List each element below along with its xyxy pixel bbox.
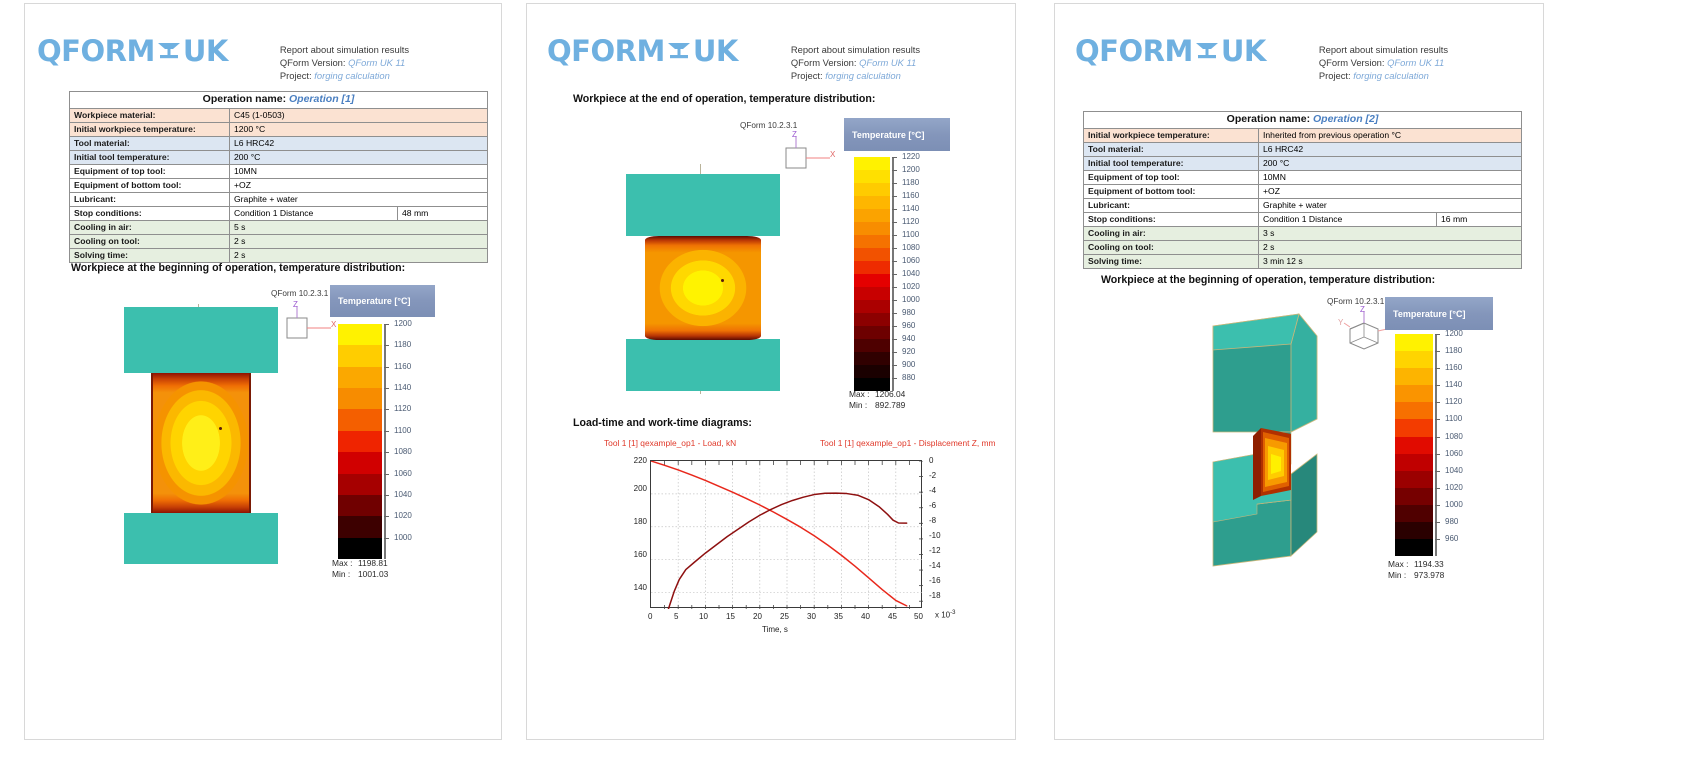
param-value: Condition 1 Distance [1259,213,1437,227]
header-project-value: forging calculation [314,70,390,81]
x-tick: 25 [780,612,789,621]
table-row: Lubricant:Graphite + water [1084,199,1522,213]
param-value: Condition 1 Distance [230,207,398,221]
colorbar-tick: 1120 [1445,397,1462,406]
param-value: L6 HRC42 [1259,143,1522,157]
param-value: Inherited from previous operation °C [1259,129,1522,143]
page-header: QFORM UK Report about simulation results… [1075,34,1535,83]
colorbar-tick: 1120 [394,404,411,413]
colorbar-tick: 1140 [1445,380,1462,389]
max-label: Max : [332,558,358,569]
param-extra: 16 mm [1437,213,1522,227]
report-page-2: QFORM UK Report about simulation results… [526,3,1016,740]
report-page-1: QFORM UK Report about simulation results… [24,3,502,740]
x-tick: 20 [753,612,762,621]
x-multiplier-exponent: -3 [950,610,955,616]
colorbar-tick: 1020 [1445,483,1463,492]
axis-label-z: Z [1360,305,1365,314]
y-tick-right: -8 [929,516,936,525]
operation-name-value: Operation [1] [289,93,354,105]
y-tick-left: 140 [629,583,647,592]
colorbar-tick: 980 [1445,517,1458,526]
x-tick: 40 [861,612,870,621]
colorbar-tick: 1000 [902,295,920,304]
header-project-label: Project: [280,70,312,81]
legend-minmax: Max :1206.04 Min :892.789 [849,389,905,411]
header-version-value: QForm UK 11 [1387,57,1444,68]
legend-title: Temperature [°C] [844,118,950,151]
header-project-label: Project: [1319,70,1351,81]
tracking-point [721,279,724,282]
colorbar-tick: 1000 [394,533,412,542]
table-row: Tool material:L6 HRC42 [70,137,488,151]
param-value: 1200 °C [230,123,488,137]
page-header: QFORM UK Report about simulation results… [37,34,487,83]
header-report-line: Report about simulation results [1319,43,1448,56]
qform-version-stamp: QForm 10.2.3.1 [1327,297,1384,306]
axis-label-z: Z [792,130,797,139]
operation-name-label: Operation name: [203,93,286,105]
x-tick: 45 [888,612,897,621]
param-key: Cooling in air: [70,221,230,235]
header-project-line: Project: forging calculation [280,69,409,82]
chart-legend-left-text: Tool 1 [1] qexample_op1 - Load, kN [604,438,736,448]
colorbar-tick: 1120 [902,217,919,226]
x-tick: 50 [914,612,923,621]
colorbar-tick: 1060 [394,469,412,478]
param-value: L6 HRC42 [230,137,488,151]
y-tick-right: -6 [929,501,936,510]
x-multiplier-base: x 10 [935,611,950,620]
param-key: Tool material: [70,137,230,151]
table-row: Solving time:2 s [70,249,488,263]
table-row: Cooling in air:5 s [70,221,488,235]
x-tick: 0 [648,612,652,621]
colorbar-tick: 1060 [902,256,920,265]
param-value: 3 min 12 s [1259,255,1522,269]
param-value: 10MN [1259,171,1522,185]
table-row: Initial workpiece temperature:Inherited … [1084,129,1522,143]
param-value: +OZ [1259,185,1522,199]
header-project-value: forging calculation [1353,70,1429,81]
colorbar-tick: 1100 [902,230,919,239]
tracking-point [219,427,222,430]
colorbar-tick: 940 [902,334,915,343]
param-key: Initial workpiece temperature: [70,123,230,137]
colorbar-tick: 1080 [1445,432,1463,441]
workpiece-billet [645,236,761,340]
header-version-line: QForm Version: QForm UK 11 [1319,56,1448,69]
section-title: Workpiece at the beginning of operation,… [1101,274,1435,286]
temperature-colorbar: 1220 1200 1180 1160 1140 1120 1100 1080 … [854,157,890,391]
y-tick-right: -4 [929,486,936,495]
x-axis-title: Time, s [762,625,788,634]
colorbar-tick: 1040 [1445,466,1463,475]
y-tick-left: 180 [629,517,647,526]
colorbar-tick: 1040 [902,269,920,278]
param-key: Equipment of bottom tool: [70,179,230,193]
anvil-icon [666,39,692,63]
axis-label-z: Z [293,300,298,309]
table-row: Solving time:3 min 12 s [1084,255,1522,269]
table-title-row: Operation name: Operation [2] [1084,112,1522,129]
chart-plot-area [650,460,922,608]
header-meta: Report about simulation results QForm Ve… [280,43,409,83]
axis-label-y: Y [1338,318,1343,327]
table-row: Initial tool temperature:200 °C [1084,157,1522,171]
y-tick-left: 200 [629,484,647,493]
y-tick-right: -14 [929,561,941,570]
param-key: Stop conditions: [70,207,230,221]
table-row: Workpiece material:C45 (1-0503) [70,109,488,123]
param-value: Graphite + water [230,193,488,207]
bottom-tool [124,513,278,564]
max-value: 1206.04 [875,389,905,399]
logo-text-left: QFORM [1075,34,1193,68]
table-row: Equipment of top tool:10MN [70,165,488,179]
header-project-label: Project: [791,70,823,81]
param-key: Initial tool temperature: [1084,157,1259,171]
table-row: Tool material:L6 HRC42 [1084,143,1522,157]
temperature-colorbar: 1200 1180 1160 1140 1120 1100 1080 1060 … [1395,334,1433,556]
table-row: Cooling on tool:2 s [70,235,488,249]
param-key: Cooling on tool: [1084,241,1259,255]
chart-legend-right: Tool 1 [1] qexample_op1 - Displacement Z… [820,438,996,448]
min-label: Min : [332,569,358,580]
colorbar-tick: 1080 [902,243,920,252]
axes-indicator: Z X [782,134,842,174]
colorbar-tick: 960 [902,321,915,330]
y-tick-left: 160 [629,550,647,559]
max-label: Max : [849,389,875,400]
anvil-icon [1194,39,1220,63]
colorbar-tick: 1100 [394,426,411,435]
table-row: Equipment of top tool:10MN [1084,171,1522,185]
header-version-value: QForm UK 11 [348,57,405,68]
report-workspace: QFORM UK Report about simulation results… [0,0,1683,783]
table-row: Cooling in air:3 s [1084,227,1522,241]
header-report-line: Report about simulation results [791,43,920,56]
legend-minmax: Max :1194.33 Min :973.978 [1388,559,1444,581]
colorbar-tick: 920 [902,347,915,356]
legend-title: Temperature [°C] [330,285,435,317]
colorbar-tick: 1160 [902,191,919,200]
header-project-line: Project: forging calculation [791,69,920,82]
colorbar-tick: 1180 [902,178,919,187]
colorbar-tick: 880 [902,373,915,382]
param-value: 2 s [230,249,488,263]
y-tick-right: -18 [929,591,941,600]
param-value: 2 s [1259,241,1522,255]
param-key: Stop conditions: [1084,213,1259,227]
logo-text-right: UK [693,34,738,68]
param-value: C45 (1-0503) [230,109,488,123]
axis-label-x: X [830,150,835,159]
colorbar-tick: 1100 [1445,414,1462,423]
colorbar-tick: 1160 [394,362,411,371]
logo-text-right: UK [183,34,228,68]
x-tick: 15 [726,612,735,621]
param-value: 3 s [1259,227,1522,241]
table-row: Equipment of bottom tool:+OZ [70,179,488,193]
section-title: Workpiece at the end of operation, tempe… [573,93,875,105]
y-tick-left: 220 [629,456,647,465]
colorbar-tick: 1200 [902,165,920,174]
colorbar-tick: 1200 [394,319,412,328]
header-version-label: QForm Version: [791,57,857,68]
anvil-icon [156,39,182,63]
diagram-section-title: Load-time and work-time diagrams: [573,417,752,429]
x-tick: 10 [699,612,708,621]
colorbar-axis [384,324,386,559]
max-value: 1194.33 [1414,559,1444,569]
y-tick-right: -2 [929,471,936,480]
param-value: 200 °C [1259,157,1522,171]
operation-parameters-table: Operation name: Operation [1] Workpiece … [69,91,488,263]
header-version-line: QForm Version: QForm UK 11 [791,56,920,69]
colorbar-tick: 1040 [394,490,412,499]
param-value: +OZ [230,179,488,193]
table-title-row: Operation name: Operation [1] [70,92,488,109]
chart-legend-right-text: Tool 1 [1] qexample_op1 - Displacement Z… [820,438,996,448]
qform-logo: QFORM UK [1075,34,1266,68]
header-report-line: Report about simulation results [280,43,409,56]
min-value: 1001.03 [358,569,388,579]
workpiece-billet [151,373,251,513]
table-row: Lubricant:Graphite + water [70,193,488,207]
table-row: Equipment of bottom tool:+OZ [1084,185,1522,199]
qform-logo: QFORM UK [37,34,228,68]
header-meta: Report about simulation results QForm Ve… [791,43,920,83]
x-tick: 30 [807,612,816,621]
colorbar-tick: 1220 [902,152,920,161]
bottom-tool [626,339,780,391]
qform-version-stamp: QForm 10.2.3.1 [740,121,797,130]
colorbar-tick: 1020 [902,282,920,291]
param-key: Initial tool temperature: [70,151,230,165]
param-value: 10MN [230,165,488,179]
logo-text-left: QFORM [37,34,155,68]
param-key: Equipment of top tool: [70,165,230,179]
y-tick-right: -12 [929,546,941,555]
min-label: Min : [849,400,875,411]
param-key: Lubricant: [70,193,230,207]
max-label: Max : [1388,559,1414,570]
colorbar-tick: 1020 [394,511,412,520]
workpiece-scene [622,164,802,394]
colorbar-tick: 1180 [394,340,411,349]
y-tick-right: -16 [929,576,941,585]
header-project-line: Project: forging calculation [1319,69,1448,82]
colorbar-tick: 1160 [1445,363,1462,372]
max-value: 1198.81 [358,558,388,568]
colorbar-tick: 1140 [902,204,919,213]
logo-text-left: QFORM [547,34,665,68]
legend-minmax: Max :1198.81 Min :1001.03 [332,558,388,580]
colorbar-tick: 960 [1445,534,1458,543]
section-title: Workpiece at the beginning of operation,… [71,262,405,274]
param-key: Tool material: [1084,143,1259,157]
temperature-colorbar: 1200 1180 1160 1140 1120 1100 1080 1060 … [338,324,382,559]
min-value: 892.789 [875,400,905,410]
header-meta: Report about simulation results QForm Ve… [1319,43,1448,83]
colorbar-tick: 1000 [1445,500,1463,509]
x-tick: 5 [674,612,678,621]
workpiece-scene [120,304,300,564]
header-version-line: QForm Version: QForm UK 11 [280,56,409,69]
param-key: Cooling on tool: [70,235,230,249]
qform-version-stamp: QForm 10.2.3.1 [271,289,328,298]
header-project-value: forging calculation [825,70,901,81]
table-row: Stop conditions:Condition 1 Distance48 m… [70,207,488,221]
x-axis-multiplier: x 10-3 [935,610,955,620]
page-header: QFORM UK Report about simulation results… [547,34,1007,83]
operation-parameters-table: Operation name: Operation [2] Initial wo… [1083,111,1522,269]
param-value: 200 °C [230,151,488,165]
header-version-label: QForm Version: [280,57,346,68]
legend-title: Temperature [°C] [1385,297,1493,330]
table-row: Initial tool temperature:200 °C [70,151,488,165]
chart-legend-left: Tool 1 [1] qexample_op1 - Load, kN [604,438,736,448]
param-value: 5 s [230,221,488,235]
table-row: Cooling on tool:2 s [1084,241,1522,255]
colorbar-tick: 980 [902,308,915,317]
qform-logo: QFORM UK [547,34,738,68]
load-time-chart: Tool 1 [1] qexample_op1 - Load, kN Tool … [557,436,997,636]
colorbar-tick: 900 [902,360,915,369]
x-tick: 35 [834,612,843,621]
colorbar-tick: 1060 [1445,449,1463,458]
operation-name-label: Operation name: [1227,113,1310,125]
colorbar-tick: 1200 [1445,329,1463,338]
param-extra: 48 mm [398,207,488,221]
header-version-label: QForm Version: [1319,57,1385,68]
colorbar-tick: 1140 [394,383,411,392]
param-key: Solving time: [1084,255,1259,269]
operation-name-value: Operation [2] [1313,113,1378,125]
y-tick-right: 0 [929,456,933,465]
min-value: 973.978 [1414,570,1444,580]
header-version-value: QForm UK 11 [859,57,916,68]
top-tool [626,174,780,236]
param-key: Cooling in air: [1084,227,1259,241]
param-key: Equipment of bottom tool: [1084,185,1259,199]
param-value: Graphite + water [1259,199,1522,213]
colorbar-tick: 1080 [394,447,412,456]
colorbar-tick: 1180 [1445,346,1462,355]
table-row: Stop conditions:Condition 1 Distance16 m… [1084,213,1522,227]
report-page-3: QFORM UK Report about simulation results… [1054,3,1544,740]
min-label: Min : [1388,570,1414,581]
param-key: Lubricant: [1084,199,1259,213]
logo-text-right: UK [1221,34,1266,68]
param-key: Solving time: [70,249,230,263]
top-tool [124,307,278,373]
axis-label-x: X [331,320,336,329]
y-tick-right: -10 [929,531,941,540]
chart-curves [651,461,923,609]
param-value: 2 s [230,235,488,249]
param-key: Equipment of top tool: [1084,171,1259,185]
table-row: Initial workpiece temperature:1200 °C [70,123,488,137]
param-key: Workpiece material: [70,109,230,123]
param-key: Initial workpiece temperature: [1084,129,1259,143]
